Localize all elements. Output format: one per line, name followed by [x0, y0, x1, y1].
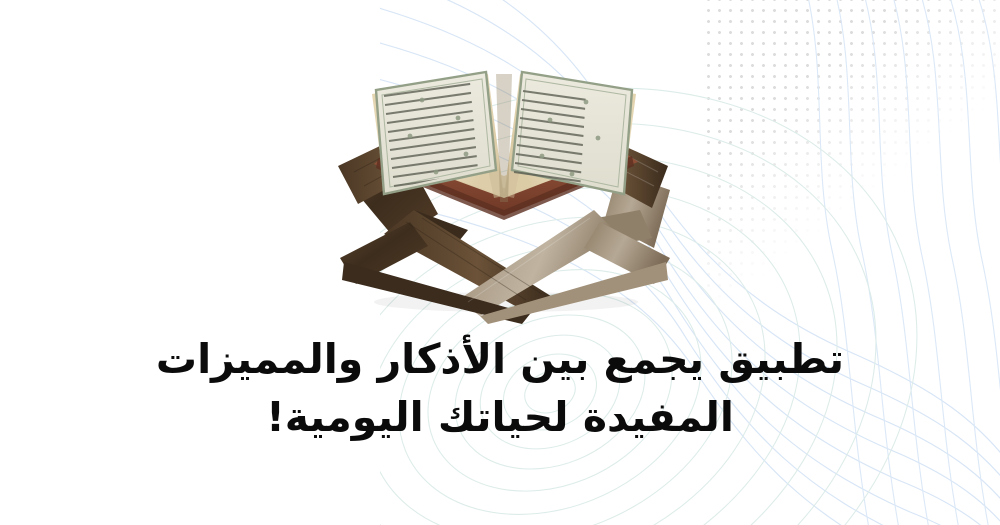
headline-text: تطبيق يجمع بين الأذكار والمميزات المفيدة…: [0, 330, 1000, 446]
dot-grid-pattern: [700, 0, 1000, 300]
promo-banner: تطبيق يجمع بين الأذكار والمميزات المفيدة…: [0, 0, 1000, 525]
open-quran-on-rehal-illustration: [318, 62, 690, 324]
